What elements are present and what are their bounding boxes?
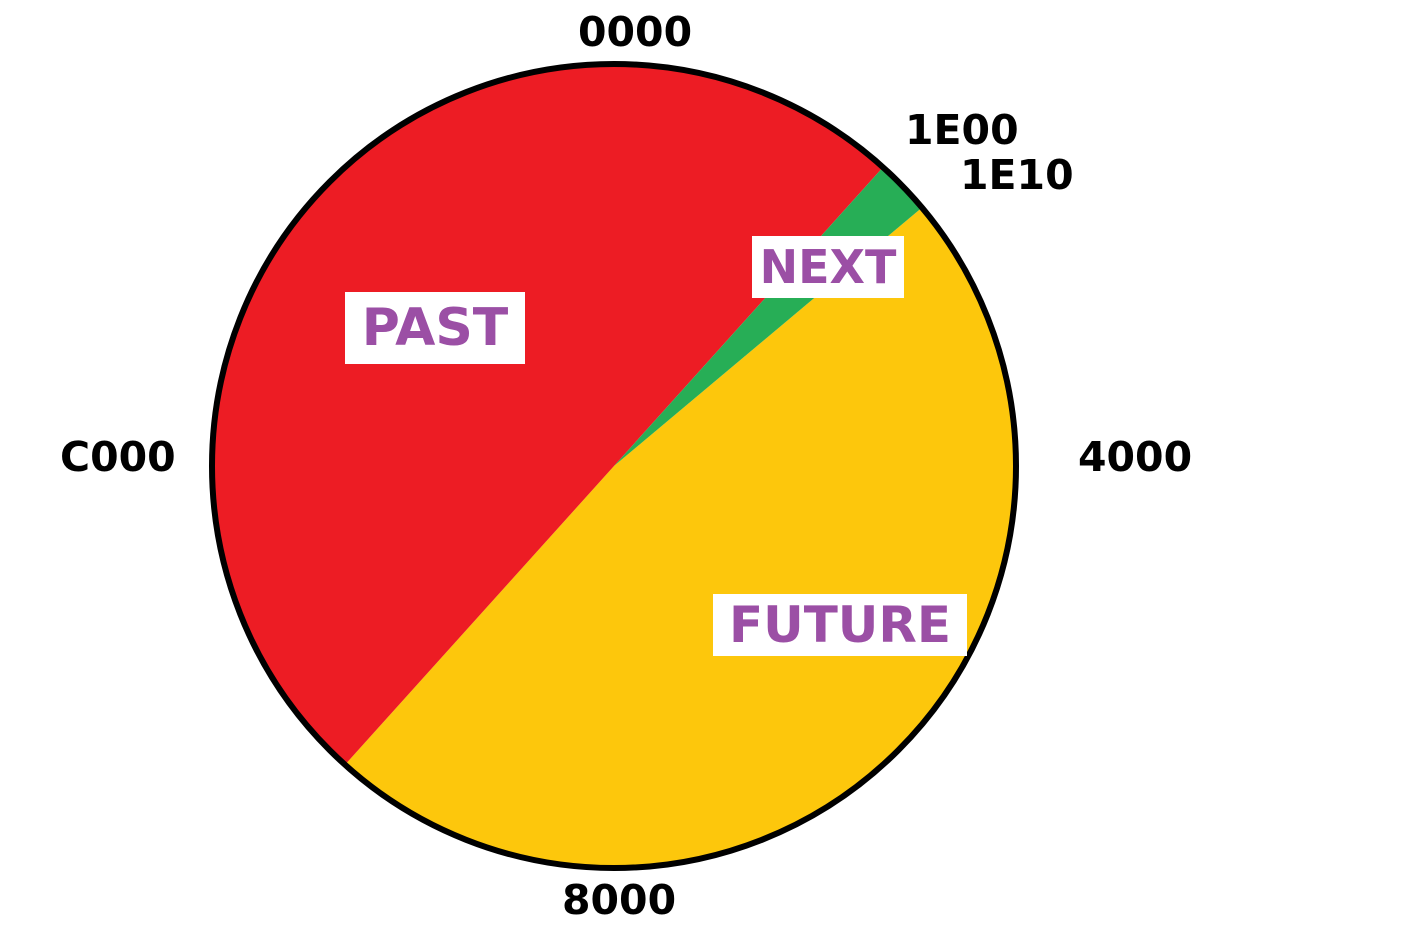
tick-label-1E00: 1E00: [905, 110, 1019, 151]
region-label-next: NEXT: [752, 236, 904, 298]
diagram-canvas: 0000 1E00 1E10 4000 8000 C000 PAST NEXT …: [0, 0, 1404, 949]
tick-label-8000: 8000: [562, 880, 676, 921]
tick-label-1E10: 1E10: [960, 155, 1074, 196]
region-label-future: FUTURE: [713, 594, 967, 656]
tick-label-C000: C000: [60, 437, 176, 478]
tick-label-4000: 4000: [1078, 437, 1192, 478]
region-label-past: PAST: [345, 292, 525, 364]
tick-label-0000: 0000: [578, 12, 692, 53]
address-space-wheel: [0, 0, 1404, 949]
